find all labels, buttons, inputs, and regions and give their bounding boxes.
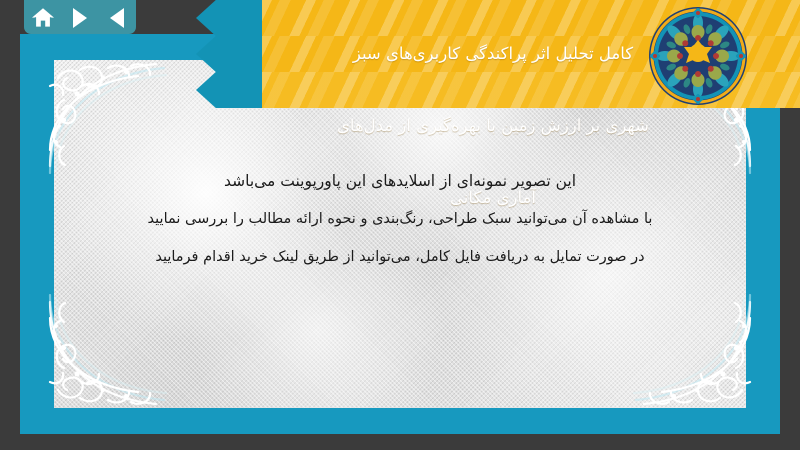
persian-medallion-icon — [648, 6, 748, 106]
forward-icon[interactable] — [69, 7, 91, 29]
home-icon[interactable] — [32, 7, 54, 29]
back-icon[interactable] — [106, 7, 128, 29]
navigation-bar — [24, 0, 136, 34]
title-line-3: آماری مکانی — [196, 180, 790, 216]
title-line-2: شهری بر ارزش زمین با بهره‌گیری از مدل‌ها… — [196, 108, 790, 144]
slide-viewer: این تصویر نمونه‌ای از اسلایدهای این پاور… — [0, 0, 800, 450]
